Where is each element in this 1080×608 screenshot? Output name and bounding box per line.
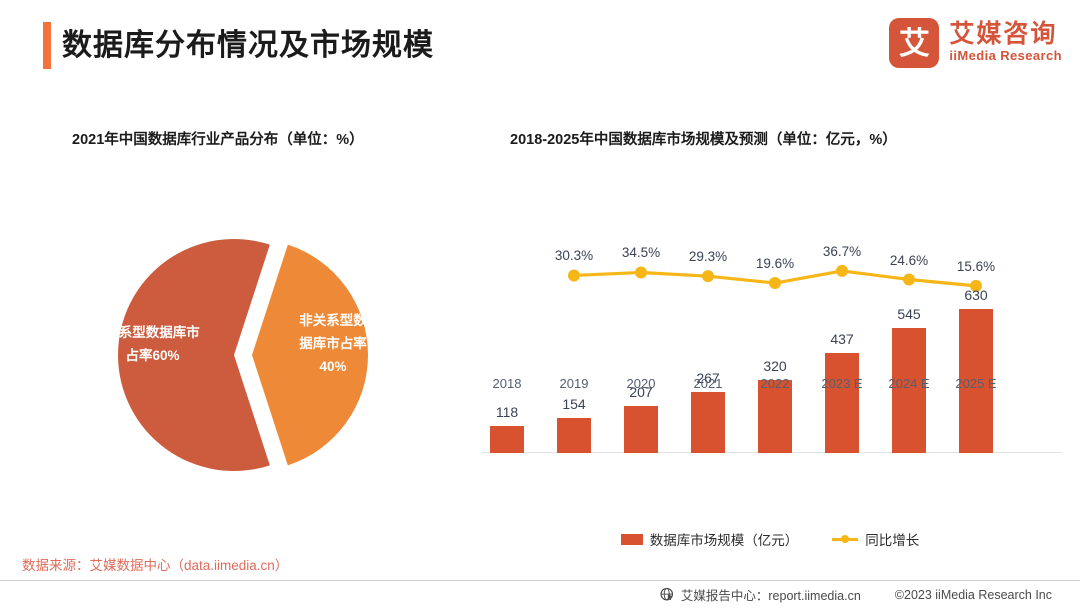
data-source-note: 数据来源：艾媒数据中心（data.iimedia.cn）: [22, 554, 288, 574]
logo-text: 艾媒咨询 iiMedia Research: [949, 21, 1062, 64]
legend-swatch-line-icon: [832, 534, 858, 545]
bar-line-chart: 1182018154201930.3%207202034.5%267202129…: [470, 225, 1070, 545]
bar-2018[interactable]: [490, 426, 524, 453]
growth-point[interactable]: [568, 269, 580, 281]
legend-label-growth: 同比增长: [865, 529, 919, 549]
page-title: 数据库分布情况及市场规模: [62, 22, 434, 69]
bar-value-label: 118: [477, 404, 537, 420]
report-center-text: 艾媒报告中心：report.iimedia.cn: [681, 585, 861, 604]
legend-item-market-size[interactable]: 数据库市场规模（亿元）: [621, 529, 799, 549]
growth-rate-label: 24.6%: [874, 253, 944, 268]
growth-rate-label: 15.6%: [941, 259, 1011, 274]
bar-value-label: 630: [946, 287, 1006, 303]
growth-rate-label: 19.6%: [740, 256, 810, 271]
report-center-link[interactable]: 艾媒报告中心：report.iimedia.cn: [660, 585, 861, 604]
logo-mark-glyph: 艾: [899, 28, 930, 59]
x-axis-label: 2019: [539, 376, 609, 391]
bar-2019[interactable]: [557, 418, 591, 453]
bar-2021[interactable]: [691, 392, 725, 453]
x-axis-label: 2023 E: [807, 376, 877, 391]
growth-point[interactable]: [769, 277, 781, 289]
slide-page: 数据库分布情况及市场规模 艾 艾媒咨询 iiMedia Research 202…: [0, 0, 1080, 608]
growth-rate-label: 36.7%: [807, 244, 877, 259]
title-accent-bar: [43, 22, 51, 69]
bar-value-label: 545: [879, 306, 939, 322]
growth-point[interactable]: [903, 273, 915, 285]
logo-mark-icon: 艾: [889, 18, 939, 68]
legend-swatch-bar-icon: [621, 534, 643, 545]
growth-rate-label: 30.3%: [539, 248, 609, 263]
x-axis-label: 2025 E: [941, 376, 1011, 391]
bar-value-label: 320: [745, 358, 805, 374]
pie-slice-label-nonrelational: 非关系型数据库市占率40%: [258, 309, 408, 378]
growth-point[interactable]: [635, 266, 647, 278]
x-axis-label: 2022: [740, 376, 810, 391]
pie-chart: 关系型数据库市占率60% 非关系型数据库市占率40%: [60, 225, 460, 480]
growth-point[interactable]: [836, 265, 848, 277]
x-axis-label: 2024 E: [874, 376, 944, 391]
pie-slice-label-relational: 关系型数据库市占率60%: [60, 321, 245, 367]
globe-cursor-icon: [660, 587, 675, 602]
growth-point[interactable]: [702, 270, 714, 282]
bar-2020[interactable]: [624, 406, 658, 453]
legend-label-market-size: 数据库市场规模（亿元）: [650, 529, 799, 549]
bar-value-label: 154: [544, 396, 604, 412]
legend-item-growth[interactable]: 同比增长: [832, 529, 919, 549]
x-axis-label: 2021: [673, 376, 743, 391]
bar-value-label: 437: [812, 331, 872, 347]
brand-logo: 艾 艾媒咨询 iiMedia Research: [889, 18, 1062, 68]
x-axis-label: 2018: [472, 376, 542, 391]
growth-rate-label: 34.5%: [606, 245, 676, 260]
left-chart-subtitle: 2021年中国数据库行业产品分布（单位：%）: [72, 128, 364, 149]
logo-name-cn: 艾媒咨询: [949, 21, 1062, 47]
chart-legend: 数据库市场规模（亿元） 同比增长: [470, 529, 1070, 549]
growth-rate-label: 29.3%: [673, 249, 743, 264]
bar-2023-E[interactable]: [825, 353, 859, 453]
footer-bar: 艾媒报告中心：report.iimedia.cn ©2023 iiMedia R…: [0, 581, 1080, 608]
logo-name-en: iiMedia Research: [949, 48, 1062, 65]
right-chart-subtitle: 2018-2025年中国数据库市场规模及预测（单位：亿元，%）: [510, 128, 897, 149]
copyright-text: ©2023 iiMedia Research Inc: [895, 588, 1052, 602]
x-axis-label: 2020: [606, 376, 676, 391]
growth-line-path: [574, 271, 976, 286]
